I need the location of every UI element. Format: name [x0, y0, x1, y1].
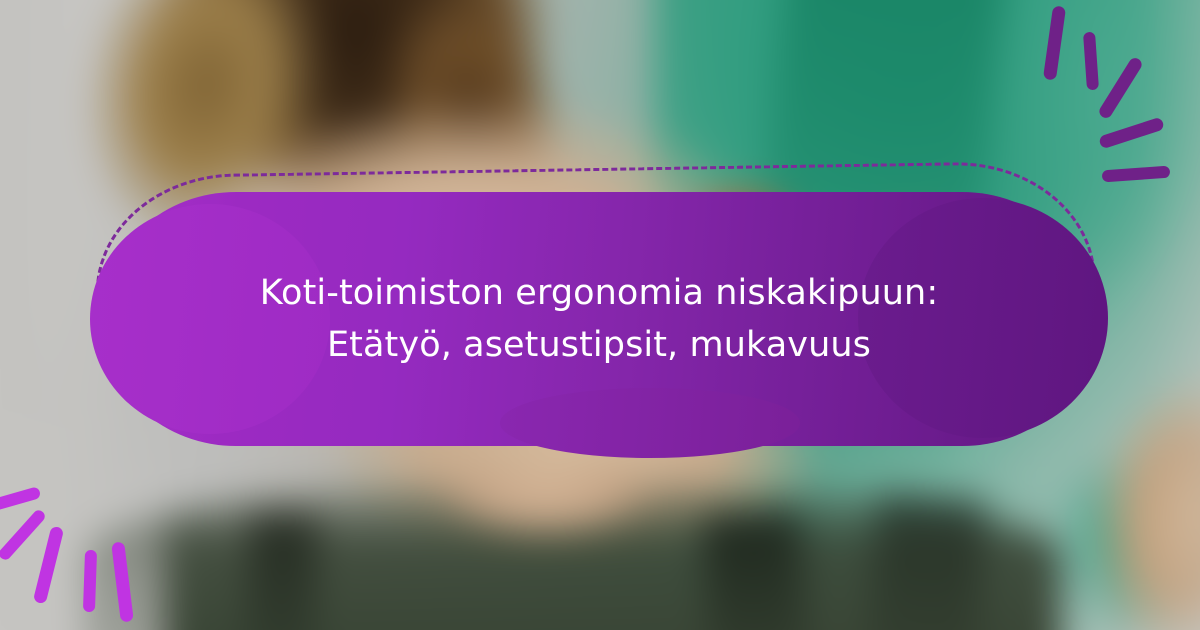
sparkle-burst-icon-bottom-left [0, 450, 200, 630]
sparkle-burst-icon-top-right [1010, 0, 1200, 175]
burst-ray [111, 542, 134, 623]
title-badge: Koti-toimiston ergonomia niskakipuun: Et… [104, 192, 1094, 446]
share-card: Koti-toimiston ergonomia niskakipuun: Et… [0, 0, 1200, 630]
badge-lobe-bottom [500, 388, 800, 458]
burst-ray [1083, 32, 1099, 91]
burst-ray [1098, 117, 1165, 150]
background-shirt-fold [703, 508, 808, 630]
burst-ray [1043, 5, 1066, 80]
title-line-1: Koti-toimiston ergonomia niskakipuun: [260, 267, 938, 320]
background-shirt-fold [864, 492, 987, 630]
burst-ray [1097, 56, 1144, 121]
title-line-2: Etätyö, asetustipsit, mukavuus [260, 319, 938, 372]
burst-ray [83, 550, 97, 612]
background-shirt-fold [244, 510, 319, 630]
burst-ray [0, 508, 47, 562]
burst-ray [33, 526, 64, 605]
page-title: Koti-toimiston ergonomia niskakipuun: Et… [214, 267, 984, 372]
